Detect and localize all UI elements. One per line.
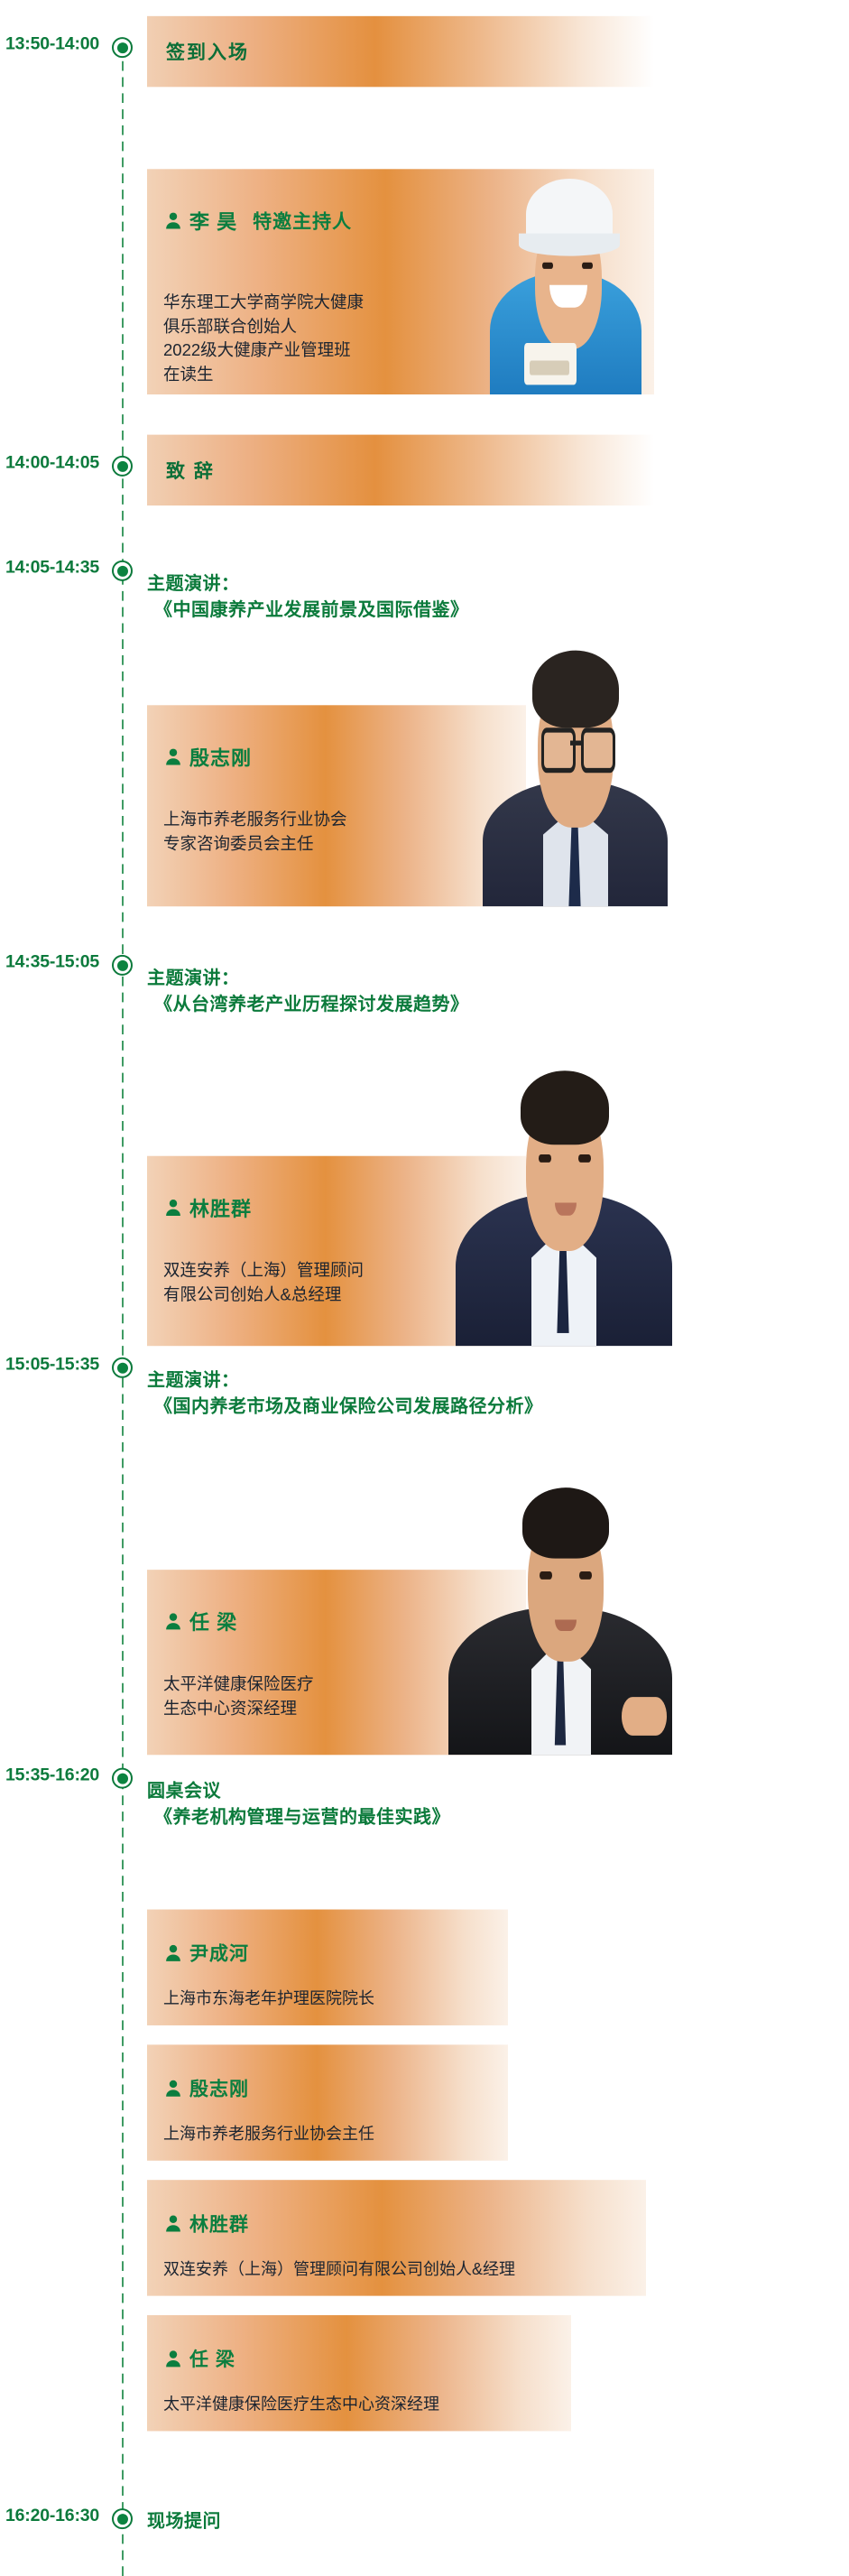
session-subtitle: 《养老机构管理与运营的最佳实践》 bbox=[154, 1805, 450, 1831]
panelist-name-line: 殷志刚 bbox=[163, 2064, 492, 2113]
panelist-bio: 上海市东海老年护理医院院长 bbox=[163, 1988, 492, 2009]
agenda-timeline: 13:50-14:00 签到入场 李 昊 特邀主持人 华东理工大 bbox=[0, 0, 849, 2576]
speaker-photo-renliang bbox=[448, 1478, 672, 1755]
row-time: 15:05-15:35 bbox=[5, 1356, 106, 1374]
speaker-name-line: 李 昊 特邀主持人 bbox=[163, 195, 638, 246]
panelist-bio: 太平洋健康保险医疗生态中心资深经理 bbox=[163, 2395, 555, 2415]
panelist-card-4: 任 梁 太平洋健康保险医疗生态中心资深经理 bbox=[147, 2315, 571, 2431]
row-time: 14:35-15:05 bbox=[5, 953, 106, 971]
speaker-name: 殷志刚 bbox=[189, 742, 252, 771]
person-icon bbox=[163, 746, 183, 766]
row-time: 14:00-14:05 bbox=[5, 455, 106, 472]
person-icon bbox=[163, 1198, 183, 1218]
person-icon bbox=[163, 2213, 183, 2233]
row-time: 15:35-16:20 bbox=[5, 1766, 106, 1784]
panelist-name: 任 梁 bbox=[189, 2345, 235, 2372]
timeline-dot bbox=[112, 561, 133, 581]
speaker-name: 林胜群 bbox=[189, 1193, 252, 1222]
session-title: 圆桌会议 bbox=[147, 1782, 221, 1802]
row-time: 13:50-14:00 bbox=[5, 36, 106, 54]
speaker-photo-yinzhigang bbox=[478, 644, 672, 907]
timeline-dot bbox=[112, 37, 133, 58]
speaker-photo-linshengqun bbox=[456, 1054, 672, 1346]
speaker-card-lihao: 李 昊 特邀主持人 华东理工大学商学院大健康 俱乐部联合创始人 2022级大健康… bbox=[147, 169, 654, 394]
speaker-name-line: 殷志刚 bbox=[163, 731, 510, 783]
session-subtitle: 《从台湾养老产业历程探讨发展趋势》 bbox=[154, 992, 469, 1018]
panelist-name-line: 尹成河 bbox=[163, 1929, 492, 1978]
row-time: 14:05-14:35 bbox=[5, 559, 106, 577]
timeline-dot bbox=[112, 456, 133, 477]
person-icon bbox=[163, 210, 183, 230]
session-band-signin: 签到入场 bbox=[147, 16, 654, 87]
session-headline-7: 现场提问 bbox=[147, 2509, 221, 2535]
session-band-opening: 致 辞 bbox=[147, 435, 654, 505]
speaker-bio: 华东理工大学商学院大健康 俱乐部联合创始人 2022级大健康产业管理班 在读生 bbox=[163, 291, 638, 387]
timeline-dot bbox=[112, 1768, 133, 1789]
timeline-dot bbox=[112, 955, 133, 976]
row-time: 16:20-16:30 bbox=[5, 2507, 106, 2525]
person-icon bbox=[163, 2349, 183, 2368]
session-title: 主题演讲： bbox=[147, 574, 240, 594]
person-icon bbox=[163, 1943, 183, 1963]
session-headline-5: 主题演讲： 《国内养老市场及商业保险公司发展路径分析》 bbox=[147, 1368, 543, 1421]
speaker-role: 特邀主持人 bbox=[253, 207, 352, 234]
person-icon bbox=[163, 1611, 183, 1631]
session-title: 主题演讲： bbox=[147, 1371, 240, 1391]
panelist-name: 殷志刚 bbox=[189, 2075, 249, 2102]
session-headline-4: 主题演讲： 《从台湾养老产业历程探讨发展趋势》 bbox=[147, 966, 469, 1018]
session-title: 致 辞 bbox=[147, 457, 215, 484]
speaker-bio: 上海市养老服务行业协会 专家咨询委员会主任 bbox=[163, 808, 510, 856]
session-headline-6: 圆桌会议 《养老机构管理与运营的最佳实践》 bbox=[147, 1779, 450, 1831]
timeline-rail bbox=[122, 45, 124, 2576]
panelist-name-line: 林胜群 bbox=[163, 2200, 630, 2248]
session-subtitle: 《中国康养产业发展前景及国际借鉴》 bbox=[154, 598, 469, 624]
speaker-card-yinzhigang: 殷志刚 上海市养老服务行业协会 专家咨询委员会主任 bbox=[147, 705, 526, 906]
timeline-dot bbox=[112, 1357, 133, 1378]
panelist-bio: 双连安养（上海）管理顾问有限公司创始人&经理 bbox=[163, 2259, 630, 2280]
panelist-name: 林胜群 bbox=[189, 2210, 249, 2237]
panelist-card-3: 林胜群 双连安养（上海）管理顾问有限公司创始人&经理 bbox=[147, 2180, 646, 2295]
panelist-card-2: 殷志刚 上海市养老服务行业协会主任 bbox=[147, 2044, 508, 2160]
speaker-name: 任 梁 bbox=[189, 1607, 237, 1635]
timeline-dot bbox=[112, 2508, 133, 2529]
session-subtitle: 《国内养老市场及商业保险公司发展路径分析》 bbox=[154, 1395, 543, 1421]
session-title: 现场提问 bbox=[147, 2512, 221, 2532]
person-icon bbox=[163, 2079, 183, 2099]
panelist-card-1: 尹成河 上海市东海老年护理医院院长 bbox=[147, 1910, 508, 2025]
session-title: 签到入场 bbox=[147, 38, 249, 65]
speaker-name: 李 昊 bbox=[189, 206, 237, 235]
session-title: 主题演讲： bbox=[147, 968, 240, 988]
panelist-bio: 上海市养老服务行业协会主任 bbox=[163, 2124, 492, 2145]
panelist-name: 尹成河 bbox=[189, 1940, 249, 1967]
session-headline-3: 主题演讲： 《中国康养产业发展前景及国际借鉴》 bbox=[147, 571, 469, 624]
panelist-name-line: 任 梁 bbox=[163, 2334, 555, 2383]
